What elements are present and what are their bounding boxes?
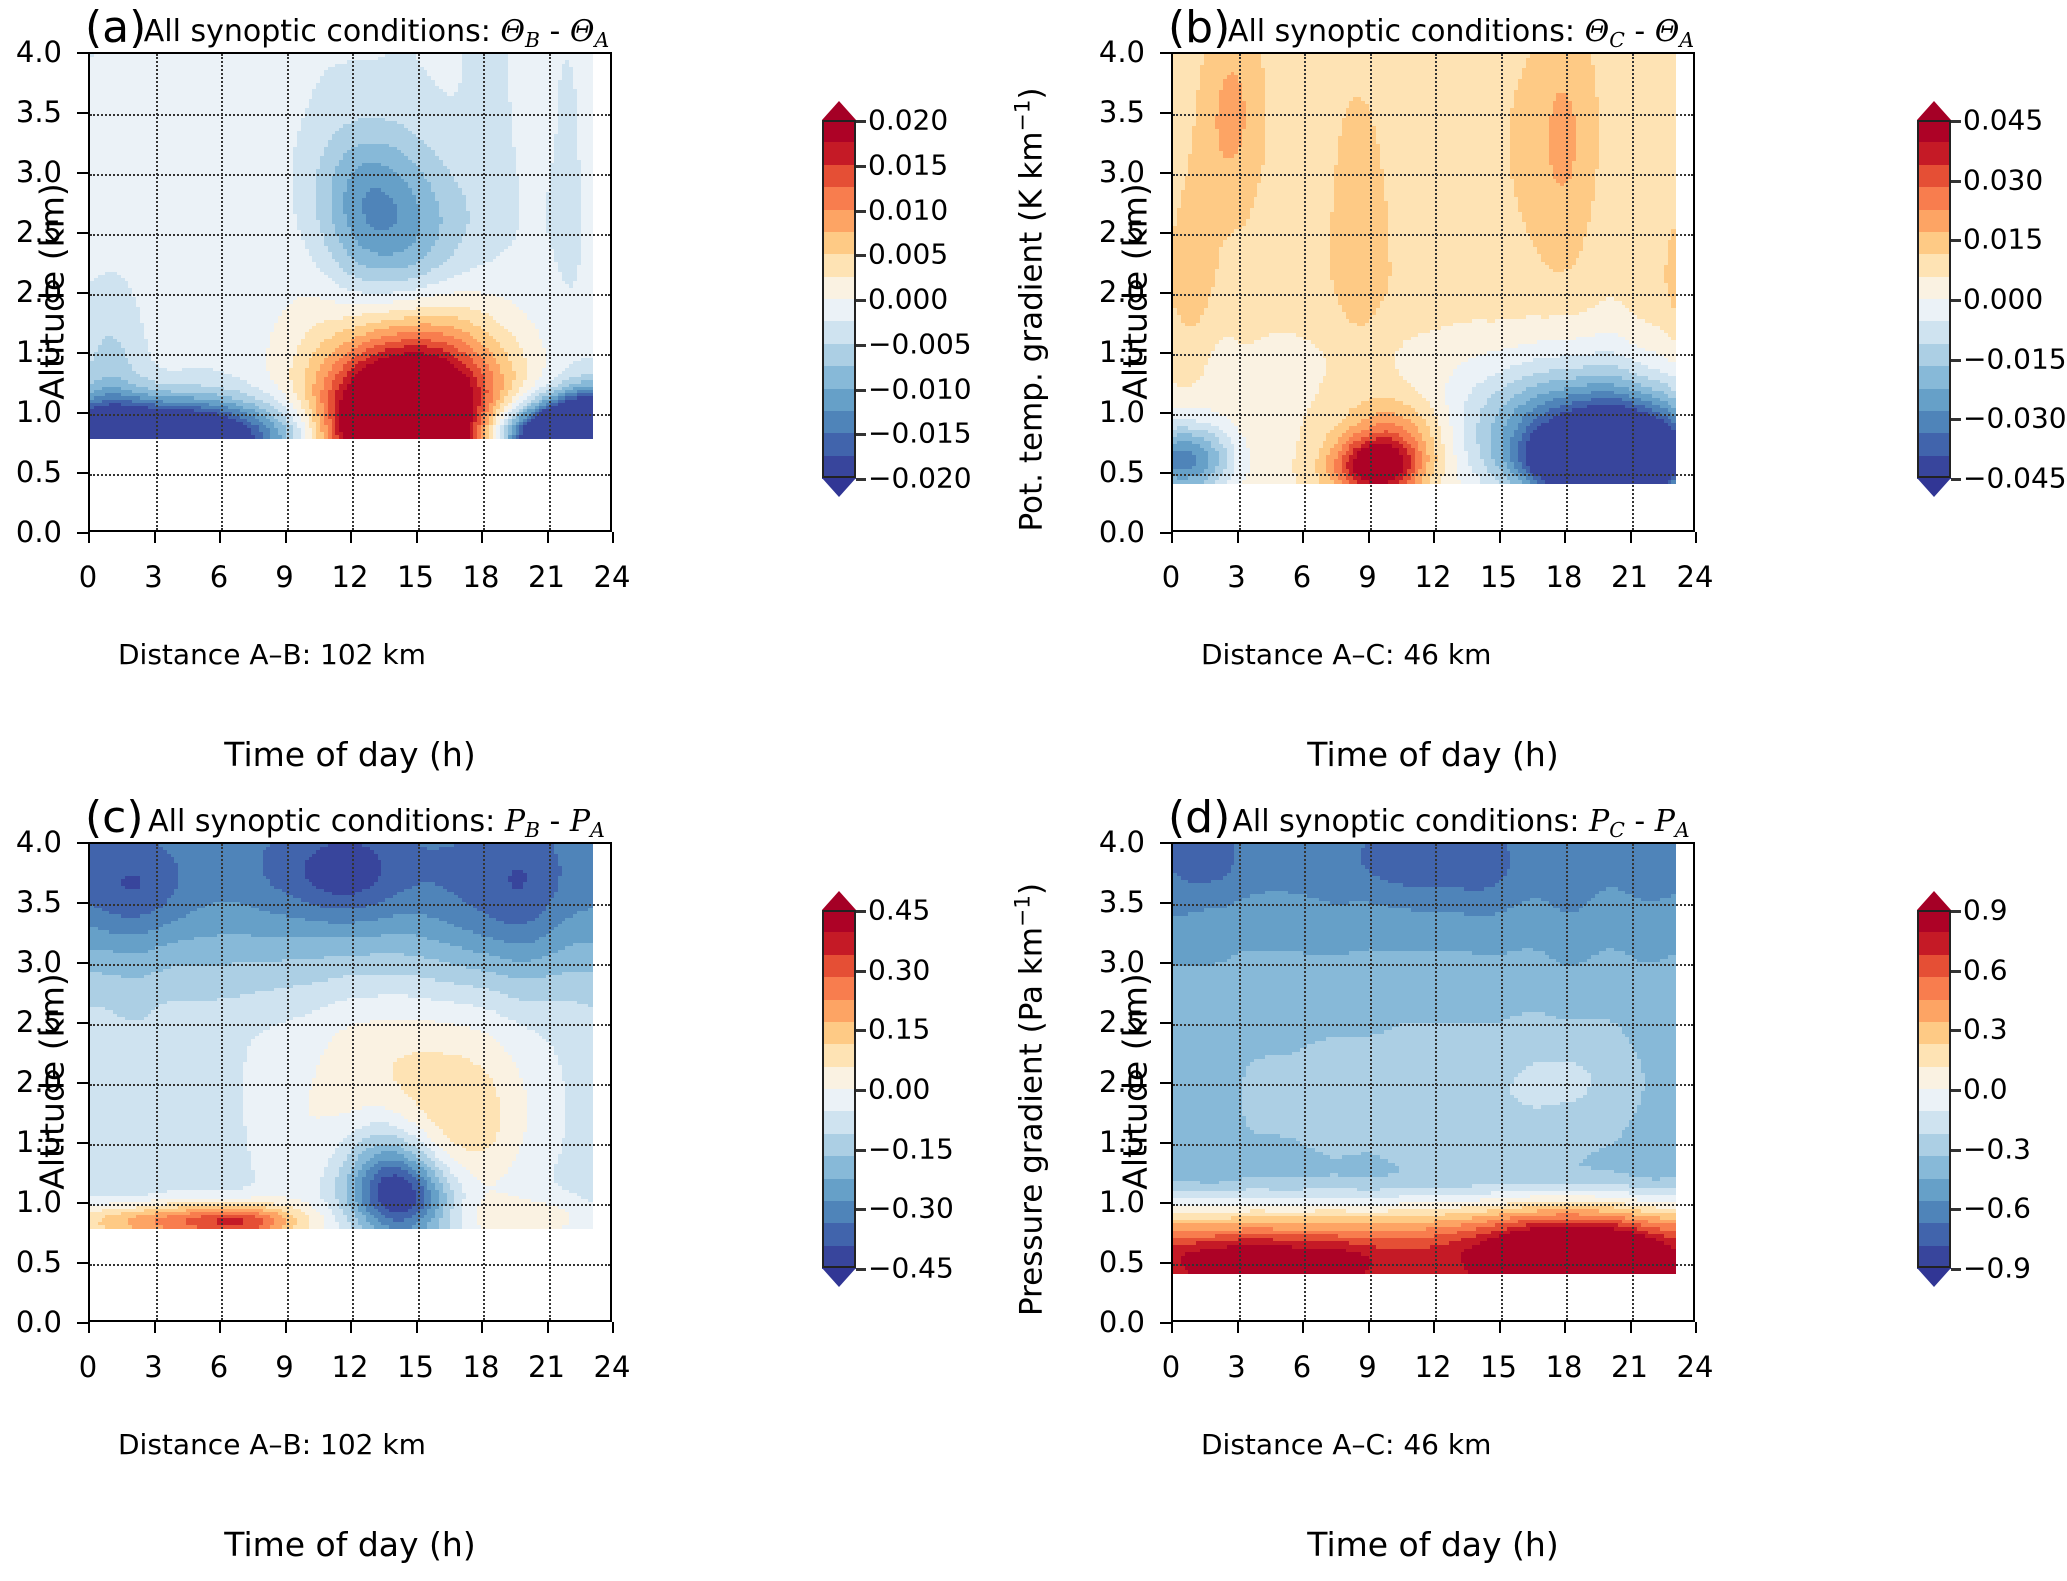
colorbar-tick-mark	[856, 120, 866, 123]
x-tick-label: 15	[1480, 1350, 1517, 1384]
x-tick-label: 24	[1677, 560, 1714, 594]
colorbar-extend-max-arrow	[1917, 101, 1951, 120]
colorbar-tick-mark	[1951, 970, 1961, 973]
panel-c-colorbar: 0.450.300.150.00−0.15−0.30−0.45	[822, 910, 856, 1268]
y-tick-mark	[77, 172, 88, 174]
x-tick-mark	[1302, 1322, 1304, 1333]
colorbar-tick-label: −0.005	[868, 327, 972, 360]
y-tick-label: 3.5	[16, 95, 62, 129]
colorbar-outline	[822, 120, 856, 478]
colorbar-tick-mark	[856, 165, 866, 168]
x-tick-label: 6	[1293, 560, 1311, 594]
x-tick-label: 0	[1162, 1350, 1180, 1384]
colorbar-tick-label: −0.45	[868, 1252, 954, 1285]
y-tick-label: 4.0	[1099, 825, 1145, 859]
colorbar-extend-min-arrow	[822, 1268, 856, 1287]
x-tick-label: 21	[1611, 560, 1648, 594]
y-tick-mark	[77, 1202, 88, 1204]
colorbar-outline	[1917, 910, 1951, 1268]
colorbar-tick-label: −0.045	[1963, 462, 2067, 495]
y-tick-label: 0.5	[16, 455, 62, 489]
x-tick-mark	[219, 532, 221, 543]
x-tick-label: 21	[528, 560, 565, 594]
panel-a-colorbar: 0.0200.0150.0100.0050.000−0.005−0.010−0.…	[822, 120, 856, 478]
colorbar-extend-min-arrow	[822, 478, 856, 497]
y-tick-mark	[1160, 172, 1171, 174]
y-tick-label: 0.5	[1099, 455, 1145, 489]
x-tick-label: 15	[1480, 560, 1517, 594]
colorbar-tick-mark	[856, 433, 866, 436]
y-tick-mark	[1160, 1262, 1171, 1264]
x-tick-mark	[154, 532, 156, 543]
colorbar-tick-label: 0.30	[868, 953, 930, 986]
colorbar-tick-mark	[856, 210, 866, 213]
x-tick-label: 6	[1293, 1350, 1311, 1384]
colorbar-extend-min-arrow	[1917, 1268, 1951, 1287]
y-tick-mark	[77, 472, 88, 474]
x-tick-mark	[1630, 1322, 1632, 1333]
y-tick-mark	[1160, 1142, 1171, 1144]
x-tick-mark	[481, 532, 483, 543]
colorbar-extend-max-arrow	[822, 891, 856, 910]
x-tick-label: 0	[1162, 560, 1180, 594]
y-tick-mark	[77, 962, 88, 964]
panel-d-ylabel: Altitude (km)	[1116, 952, 1155, 1212]
panel-b-heatmap	[1173, 54, 1693, 530]
x-tick-label: 12	[332, 560, 369, 594]
y-tick-mark	[77, 352, 88, 354]
colorbar-tick-label: 0.00	[868, 1073, 930, 1106]
y-tick-mark	[1160, 232, 1171, 234]
colorbar-tick-mark	[856, 910, 866, 913]
x-tick-mark	[416, 1322, 418, 1333]
panel-c-ylabel: Altitude (km)	[33, 952, 72, 1212]
colorbar-tick-label: −0.15	[868, 1132, 954, 1165]
y-tick-mark	[1160, 1022, 1171, 1024]
x-tick-label: 3	[144, 560, 162, 594]
y-tick-mark	[77, 1262, 88, 1264]
y-tick-mark	[1160, 412, 1171, 414]
colorbar-outline	[1917, 120, 1951, 478]
colorbar-extend-max-arrow	[1917, 891, 1951, 910]
panel-c-plot-area[interactable]	[88, 842, 612, 1322]
panel-b-plot-area[interactable]	[1171, 52, 1695, 532]
x-tick-label: 6	[210, 560, 228, 594]
y-tick-mark	[77, 1322, 88, 1324]
panel-c: (c) All synoptic conditions: PB - PA 036…	[0, 790, 1033, 1581]
y-tick-mark	[1160, 1082, 1171, 1084]
y-tick-mark	[77, 112, 88, 114]
colorbar-tick-mark	[1951, 1089, 1961, 1092]
colorbar-tick-label: 0.45	[868, 894, 930, 927]
colorbar-tick-mark	[1951, 418, 1961, 421]
x-tick-label: 12	[1415, 1350, 1452, 1384]
colorbar-tick-label: −0.020	[868, 462, 972, 495]
colorbar-tick-mark	[856, 389, 866, 392]
colorbar-outline	[822, 910, 856, 1268]
colorbar-tick-label: 0.030	[1963, 163, 2043, 196]
panel-d: (d) All synoptic conditions: PC - PA 036…	[1035, 790, 2067, 1581]
x-tick-label: 24	[594, 560, 631, 594]
x-tick-mark	[1433, 1322, 1435, 1333]
colorbar-tick-mark	[1951, 1149, 1961, 1152]
colorbar-tick-mark	[1951, 1208, 1961, 1211]
x-tick-mark	[1564, 532, 1566, 543]
colorbar-tick-label: 0.005	[868, 238, 948, 271]
y-tick-label: 3.5	[1099, 885, 1145, 919]
y-tick-mark	[77, 1022, 88, 1024]
x-tick-mark	[547, 532, 549, 543]
x-tick-mark	[154, 1322, 156, 1333]
colorbar-tick-label: 0.015	[868, 148, 948, 181]
y-tick-label: 0.0	[1099, 515, 1145, 549]
y-tick-mark	[1160, 52, 1171, 54]
y-tick-mark	[1160, 842, 1171, 844]
colorbar-tick-mark	[1951, 239, 1961, 242]
x-tick-mark	[1564, 1322, 1566, 1333]
colorbar-tick-label: 0.9	[1963, 894, 2008, 927]
y-tick-mark	[77, 412, 88, 414]
x-tick-mark	[88, 532, 90, 543]
panel-a-plot-area[interactable]	[88, 52, 612, 532]
colorbar-tick-mark	[1951, 120, 1961, 123]
colorbar-tick-mark	[1951, 478, 1961, 481]
x-tick-mark	[547, 1322, 549, 1333]
colorbar-tick-mark	[1951, 1029, 1961, 1032]
y-tick-mark	[1160, 292, 1171, 294]
x-tick-label: 9	[1358, 1350, 1376, 1384]
colorbar-tick-mark	[1951, 910, 1961, 913]
panel-a-heatmap	[90, 54, 610, 530]
x-tick-mark	[1630, 532, 1632, 543]
y-tick-mark	[1160, 1202, 1171, 1204]
colorbar-tick-label: 0.3	[1963, 1013, 2008, 1046]
x-tick-mark	[612, 1322, 614, 1333]
y-tick-label: 0.5	[16, 1245, 62, 1279]
y-tick-mark	[1160, 902, 1171, 904]
x-tick-label: 15	[397, 1350, 434, 1384]
y-tick-mark	[77, 52, 88, 54]
panel-b-xlabel: Time of day (h)	[1171, 735, 1695, 774]
x-tick-mark	[350, 532, 352, 543]
panel-a-annotation: Distance A–B: 102 km	[118, 638, 426, 671]
colorbar-tick-label: 0.015	[1963, 223, 2043, 256]
colorbar-tick-mark	[856, 1149, 866, 1152]
x-tick-label: 18	[1546, 560, 1583, 594]
y-tick-label: 3.5	[16, 885, 62, 919]
x-tick-mark	[1695, 1322, 1697, 1333]
panel-b-colorbar: 0.0450.0300.0150.000−0.015−0.030−0.045	[1917, 120, 1951, 478]
panel-c-xlabel: Time of day (h)	[88, 1525, 612, 1564]
colorbar-tick-label: −0.9	[1963, 1252, 2031, 1285]
x-tick-label: 15	[397, 560, 434, 594]
colorbar-tick-mark	[856, 344, 866, 347]
colorbar-tick-mark	[856, 254, 866, 257]
x-tick-label: 0	[79, 1350, 97, 1384]
colorbar-tick-label: 0.6	[1963, 953, 2008, 986]
panel-b-annotation: Distance A–C: 46 km	[1201, 638, 1491, 671]
colorbar-extend-max-arrow	[822, 101, 856, 120]
x-tick-label: 9	[275, 1350, 293, 1384]
x-tick-label: 12	[332, 1350, 369, 1384]
y-tick-label: 3.5	[1099, 95, 1145, 129]
x-tick-label: 24	[594, 1350, 631, 1384]
x-tick-label: 18	[463, 560, 500, 594]
panel-d-annotation: Distance A–C: 46 km	[1201, 1428, 1491, 1461]
x-tick-label: 3	[144, 1350, 162, 1384]
colorbar-tick-label: 0.045	[1963, 104, 2043, 137]
colorbar-tick-label: 0.010	[868, 193, 948, 226]
colorbar-tick-mark	[1951, 359, 1961, 362]
x-tick-mark	[1368, 1322, 1370, 1333]
x-tick-mark	[219, 1322, 221, 1333]
y-tick-mark	[1160, 962, 1171, 964]
x-tick-mark	[1368, 532, 1370, 543]
panel-d-heatmap	[1173, 844, 1693, 1320]
panel-d-plot-area[interactable]	[1171, 842, 1695, 1322]
x-tick-label: 3	[1227, 1350, 1245, 1384]
colorbar-tick-mark	[856, 478, 866, 481]
colorbar-tick-mark	[856, 1268, 866, 1271]
y-tick-label: 4.0	[16, 35, 62, 69]
y-tick-mark	[77, 902, 88, 904]
colorbar-tick-label: 0.020	[868, 104, 948, 137]
colorbar-tick-mark	[856, 1089, 866, 1092]
colorbar-tick-label: 0.0	[1963, 1073, 2008, 1106]
panel-d-xlabel: Time of day (h)	[1171, 1525, 1695, 1564]
panel-a-ylabel: Altitude (km)	[33, 162, 72, 422]
x-tick-mark	[1499, 532, 1501, 543]
colorbar-tick-mark	[856, 299, 866, 302]
x-tick-mark	[1237, 532, 1239, 543]
colorbar-tick-label: −0.30	[868, 1192, 954, 1225]
y-tick-mark	[1160, 112, 1171, 114]
x-tick-label: 24	[1677, 1350, 1714, 1384]
y-tick-mark	[1160, 532, 1171, 534]
colorbar-tick-mark	[1951, 1268, 1961, 1271]
colorbar-tick-label: −0.015	[1963, 342, 2067, 375]
x-tick-label: 0	[79, 560, 97, 594]
panel-a-xlabel: Time of day (h)	[88, 735, 612, 774]
x-tick-label: 18	[463, 1350, 500, 1384]
x-tick-mark	[350, 1322, 352, 1333]
y-tick-label: 0.5	[1099, 1245, 1145, 1279]
panel-c-heatmap	[90, 844, 610, 1320]
x-tick-label: 9	[1358, 560, 1376, 594]
y-tick-label: 0.0	[1099, 1305, 1145, 1339]
colorbar-tick-label: 0.000	[868, 283, 948, 316]
x-tick-mark	[1171, 1322, 1173, 1333]
x-tick-mark	[612, 532, 614, 543]
panel-d-colorbar: 0.90.60.30.0−0.3−0.6−0.9	[1917, 910, 1951, 1268]
colorbar-extend-min-arrow	[1917, 478, 1951, 497]
figure-canvas: (a) All synoptic conditions: ΘB - ΘA 036…	[0, 0, 2067, 1581]
panel-c-title: All synoptic conditions: PB - PA	[0, 804, 893, 842]
x-tick-mark	[88, 1322, 90, 1333]
colorbar-tick-label: −0.015	[868, 417, 972, 450]
y-tick-label: 0.0	[16, 1305, 62, 1339]
x-tick-label: 3	[1227, 560, 1245, 594]
x-tick-mark	[1171, 532, 1173, 543]
colorbar-tick-label: −0.010	[868, 372, 972, 405]
x-tick-mark	[416, 532, 418, 543]
panel-b-ylabel: Altitude (km)	[1116, 162, 1155, 422]
x-tick-mark	[1499, 1322, 1501, 1333]
colorbar-tick-mark	[856, 970, 866, 973]
x-tick-label: 9	[275, 560, 293, 594]
x-tick-label: 12	[1415, 560, 1452, 594]
y-tick-mark	[77, 1142, 88, 1144]
y-tick-label: 4.0	[1099, 35, 1145, 69]
colorbar-tick-label: 0.000	[1963, 283, 2043, 316]
y-tick-label: 0.0	[16, 515, 62, 549]
panel-c-annotation: Distance A–B: 102 km	[118, 1428, 426, 1461]
x-tick-label: 21	[1611, 1350, 1648, 1384]
colorbar-tick-label: 0.15	[868, 1013, 930, 1046]
colorbar-tick-mark	[1951, 180, 1961, 183]
colorbar-tick-label: −0.6	[1963, 1192, 2031, 1225]
x-tick-mark	[1695, 532, 1697, 543]
colorbar-tick-mark	[1951, 299, 1961, 302]
panel-b: (b) All synoptic conditions: ΘC - ΘA 036…	[1035, 0, 2067, 790]
y-tick-mark	[77, 842, 88, 844]
panel-a: (a) All synoptic conditions: ΘB - ΘA 036…	[0, 0, 1033, 790]
x-tick-label: 21	[528, 1350, 565, 1384]
colorbar-tick-label: −0.3	[1963, 1132, 2031, 1165]
colorbar-tick-label: −0.030	[1963, 402, 2067, 435]
x-tick-label: 18	[1546, 1350, 1583, 1384]
x-tick-mark	[285, 532, 287, 543]
y-tick-mark	[1160, 352, 1171, 354]
panel-a-title: All synoptic conditions: ΘB - ΘA	[0, 14, 893, 52]
y-tick-mark	[77, 532, 88, 534]
x-tick-mark	[285, 1322, 287, 1333]
y-tick-mark	[77, 1082, 88, 1084]
x-tick-label: 6	[210, 1350, 228, 1384]
y-tick-label: 4.0	[16, 825, 62, 859]
colorbar-tick-mark	[856, 1029, 866, 1032]
colorbar-tick-mark	[856, 1208, 866, 1211]
x-tick-mark	[1433, 532, 1435, 543]
x-tick-mark	[1302, 532, 1304, 543]
y-tick-mark	[77, 292, 88, 294]
y-tick-mark	[1160, 472, 1171, 474]
x-tick-mark	[481, 1322, 483, 1333]
y-tick-mark	[77, 232, 88, 234]
x-tick-mark	[1237, 1322, 1239, 1333]
y-tick-mark	[1160, 1322, 1171, 1324]
